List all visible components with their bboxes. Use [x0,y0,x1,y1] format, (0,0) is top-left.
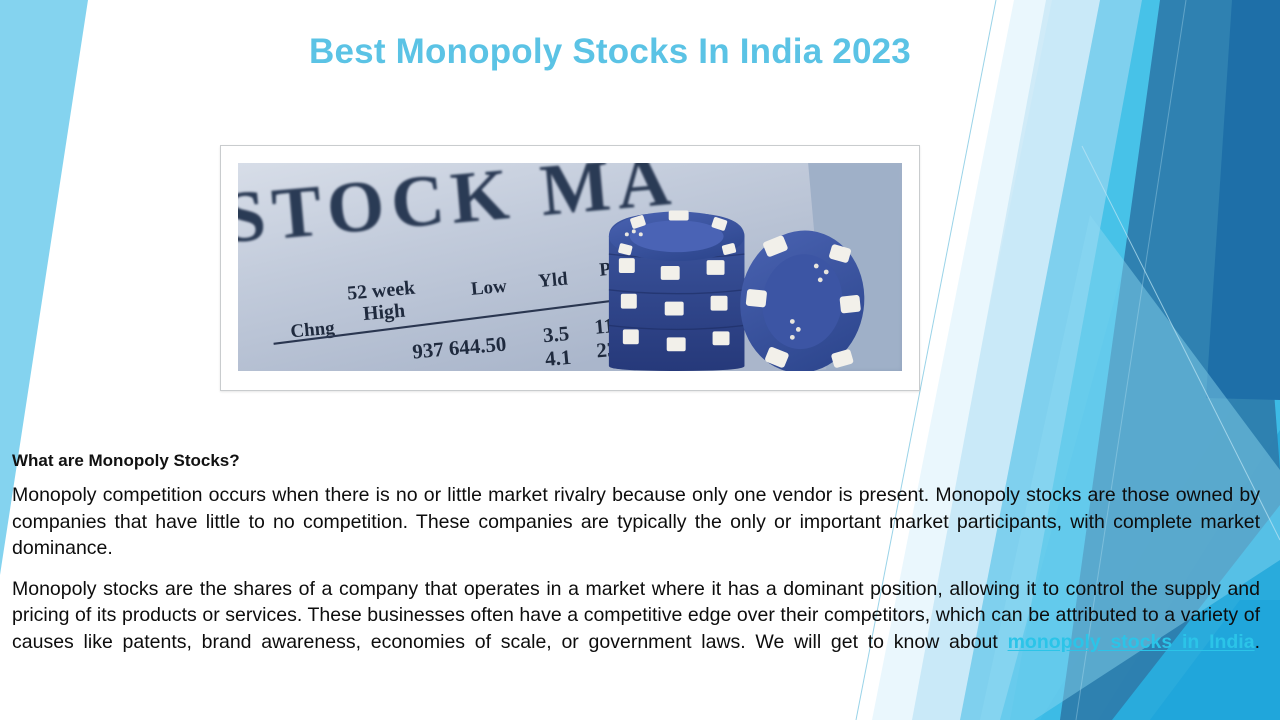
svg-text:High: High [362,300,406,325]
picture-frame: STOCK MA 52 week Low Yld P/e High Chng [220,145,920,391]
stock-market-image: STOCK MA 52 week Low Yld P/e High Chng [238,163,902,371]
svg-text:Yld: Yld [537,269,569,292]
body-heading: What are Monopoly Stocks? [12,449,1260,472]
poker-chip-stack [609,211,745,371]
svg-text:4.1: 4.1 [544,345,572,371]
paragraph-definition: Monopoly competition occurs when there i… [12,482,1260,562]
page-title: Best Monopoly Stocks In India 2023 [0,30,1220,74]
presentation-slide: Best Monopoly Stocks In India 2023 [0,0,1280,720]
body-content: What are Monopoly Stocks? Monopoly compe… [12,449,1260,682]
paragraph-dominance: Monopoly stocks are the shares of a comp… [12,576,1260,682]
svg-text:3.5: 3.5 [542,321,570,347]
svg-text:Low: Low [470,276,508,300]
paragraph-dominance-text-after-link: . [1255,631,1260,653]
monopoly-stocks-in-india-link[interactable]: monopoly stocks in India [1008,631,1255,653]
stock-market-illustration: STOCK MA 52 week Low Yld P/e High Chng [238,163,902,371]
